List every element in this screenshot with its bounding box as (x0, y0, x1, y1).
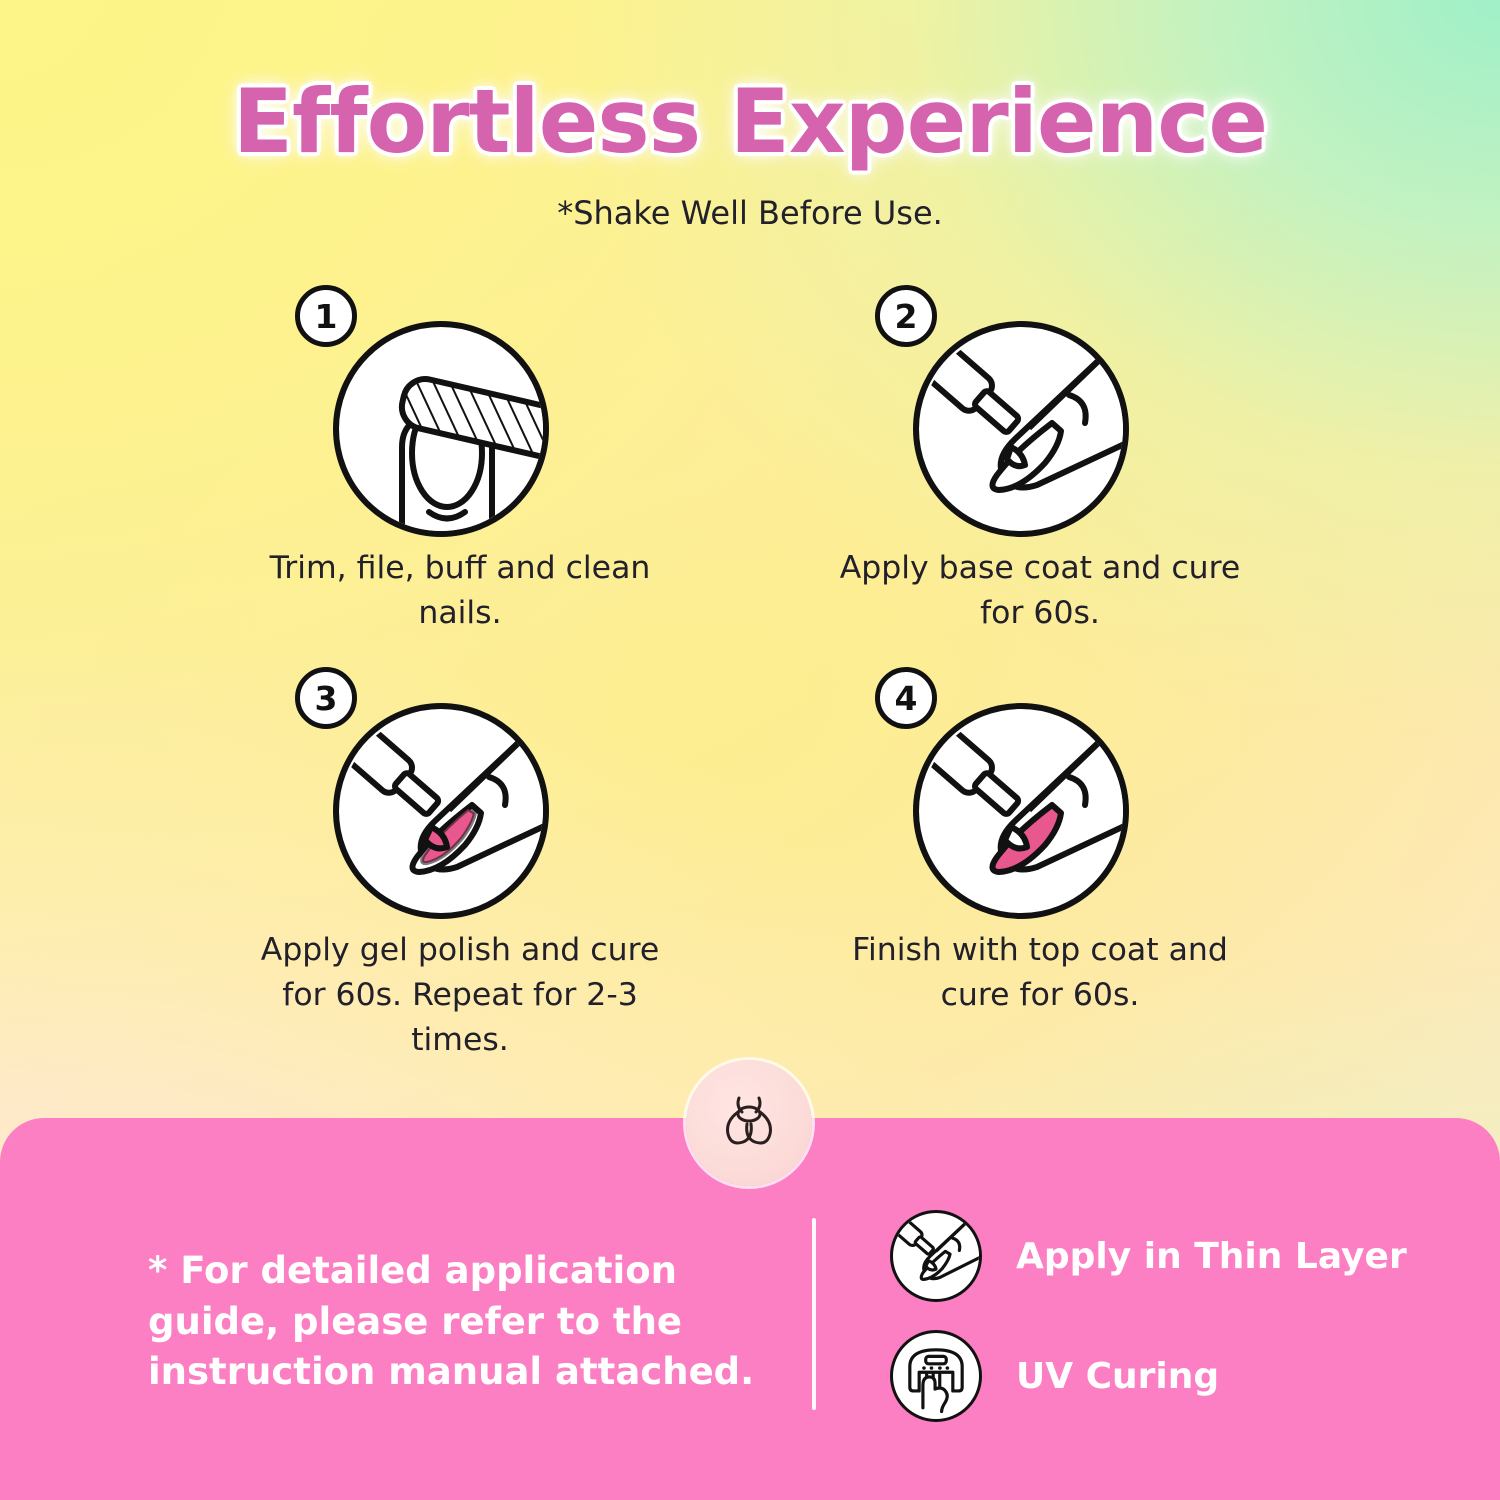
brush-base-coat-icon (913, 321, 1129, 537)
page-title: Effortless Experience (0, 76, 1500, 168)
step-4-illustration: 4 (875, 667, 1205, 922)
step-item-4: 4 (750, 667, 1330, 1062)
step-1-illustration: 1 (295, 285, 625, 540)
step-item-2: 2 (750, 285, 1330, 635)
uv-lamp-icon (890, 1330, 982, 1422)
feature-label: Apply in Thin Layer (1016, 1236, 1407, 1277)
nail-file-buffer-icon (333, 321, 549, 537)
step-number-label: 1 (315, 297, 338, 336)
step-number-label: 2 (895, 297, 918, 336)
feature-item-uv-curing: UV Curing (890, 1330, 1407, 1422)
step-caption-4: Finish with top coat and cure for 60s. (825, 928, 1255, 1017)
thin-layer-brush-icon (890, 1210, 982, 1302)
step-3-illustration: 3 (295, 667, 625, 922)
step-number-badge-1: 1 (295, 285, 357, 347)
step-number-badge-3: 3 (295, 667, 357, 729)
vertical-divider (812, 1218, 816, 1410)
step-item-1: 1 (170, 285, 750, 635)
step-item-3: 3 (170, 667, 750, 1062)
page-subtitle: *Shake Well Before Use. (0, 194, 1500, 232)
step-caption-2: Apply base coat and cure for 60s. (825, 546, 1255, 635)
brush-gel-polish-icon (333, 703, 549, 919)
step-number-badge-4: 4 (875, 667, 937, 729)
step-caption-3: Apply gel polish and cure for 60s. Repea… (245, 928, 675, 1062)
step-number-label: 3 (315, 679, 338, 718)
manual-note: * For detailed application guide, please… (148, 1246, 768, 1398)
step-caption-1: Trim, file, buff and clean nails. (245, 546, 675, 635)
step-number-label: 4 (895, 679, 918, 718)
header: Effortless Experience *Shake Well Before… (0, 0, 1500, 232)
features-list: Apply in Thin Layer (890, 1210, 1407, 1422)
feature-item-thin-layer: Apply in Thin Layer (890, 1210, 1407, 1302)
steps-grid: 1 (170, 285, 1330, 1063)
feature-label: UV Curing (1016, 1356, 1219, 1397)
step-number-badge-2: 2 (875, 285, 937, 347)
step-2-illustration: 2 (875, 285, 1205, 540)
bee-logo-icon (686, 1060, 812, 1186)
brush-top-coat-icon (913, 703, 1129, 919)
